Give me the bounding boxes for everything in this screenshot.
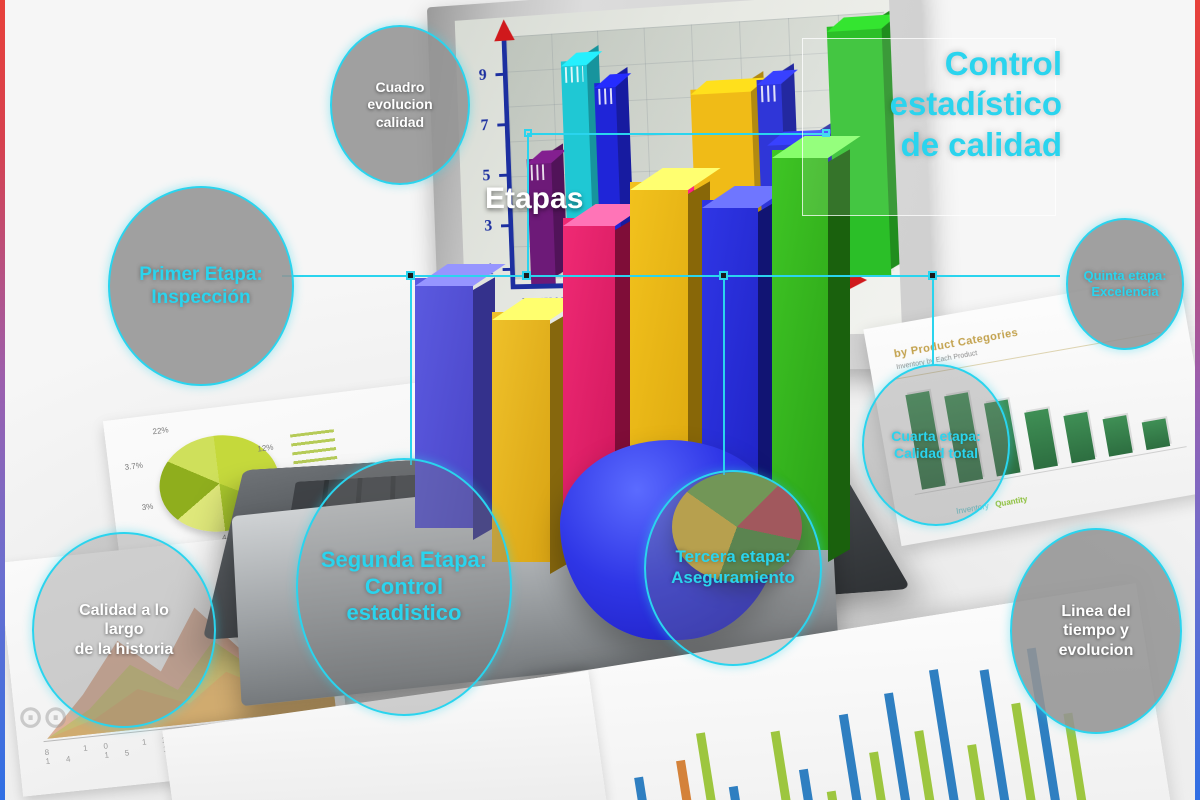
bubble-tercera-etapa[interactable]: Tercera etapa: Aseguramiento bbox=[644, 470, 822, 666]
bubble-linea-line-1: tiempo y bbox=[1059, 621, 1134, 641]
right-report-bar-4 bbox=[1063, 412, 1095, 463]
bubble-cuarta-line-1: Calidad total bbox=[891, 445, 980, 462]
connector-vertical-segunda bbox=[410, 275, 412, 465]
connector-node-segunda bbox=[406, 271, 415, 280]
bubble-cuarta-line-0: Cuarta etapa: bbox=[891, 428, 980, 445]
connector-node-cuarta bbox=[928, 271, 937, 280]
connector-node-tercera bbox=[719, 271, 728, 280]
bubble-linea-line-0: Linea del bbox=[1059, 602, 1134, 622]
y-tick-9: 9 bbox=[478, 65, 487, 85]
bubble-cuadro-evolucion-calidad[interactable]: Cuadro evolucion calidad bbox=[330, 25, 470, 185]
page-title: Control estadístico de calidad bbox=[800, 44, 1062, 165]
screen-bar-0 bbox=[527, 158, 556, 284]
bubble-cuarta-etapa[interactable]: Cuarta etapa: Calidad total bbox=[862, 364, 1010, 526]
title-line-1: Control bbox=[945, 45, 1062, 82]
right-report-bar-3 bbox=[1024, 409, 1058, 470]
bubble-quinta-line-1: Excelencia bbox=[1083, 284, 1166, 300]
right-report-bar-6 bbox=[1142, 418, 1170, 450]
pie-label-1: 12% bbox=[257, 443, 274, 454]
watermark: ⊙⊙ bbox=[18, 700, 68, 735]
bubble-segunda-line-1: Control bbox=[321, 574, 487, 601]
bubble-tercera-line-1: Aseguramiento bbox=[671, 568, 795, 589]
y-tick-3: 3 bbox=[484, 216, 493, 236]
infographic-canvas: 22% 12% 3.7% 3% 4.7% 8 10 11 12 13 14 15… bbox=[0, 0, 1200, 800]
connector-stub-primer bbox=[282, 275, 412, 277]
bubble-linea-line-2: evolucion bbox=[1059, 641, 1134, 661]
foreground-bar-yellow bbox=[492, 312, 550, 562]
left-gradient-border bbox=[0, 0, 5, 800]
bubble-calidad-line-1: largo bbox=[75, 620, 174, 640]
connector-upper-horizontal bbox=[528, 133, 828, 135]
y-axis-arrow-icon bbox=[493, 19, 514, 42]
legend-quantity: Quantity bbox=[995, 495, 1029, 509]
bubble-tercera-line-0: Tercera etapa: bbox=[671, 547, 795, 568]
title-line-2: estadístico bbox=[890, 85, 1062, 122]
bubble-calidad-line-0: Calidad a lo bbox=[75, 601, 174, 621]
pie-label-3: 3% bbox=[141, 502, 154, 512]
bubble-segunda-line-2: estadistico bbox=[321, 600, 487, 627]
bubble-calidad-historia[interactable]: Calidad a lo largo de la historia bbox=[32, 532, 216, 728]
right-report-bar-5 bbox=[1103, 415, 1133, 457]
bubble-quinta-etapa[interactable]: Quinta etapa: Excelencia bbox=[1066, 218, 1184, 350]
bubble-cuadro-line-1: evolucion bbox=[367, 96, 432, 113]
bubble-segunda-etapa[interactable]: Segunda Etapa: Control estadistico bbox=[296, 458, 512, 716]
pie-label-0: 22% bbox=[152, 425, 169, 436]
right-gradient-border bbox=[1195, 0, 1200, 800]
bubble-primer-line-0: Primer Etapa: bbox=[139, 263, 263, 286]
bubble-linea-tiempo[interactable]: Linea del tiempo y evolucion bbox=[1010, 528, 1182, 734]
bubble-quinta-line-0: Quinta etapa: bbox=[1083, 268, 1166, 284]
bubble-cuadro-line-0: Cuadro bbox=[367, 79, 432, 96]
title-line-3: de calidad bbox=[901, 126, 1062, 163]
bubble-segunda-line-0: Segunda Etapa: bbox=[321, 547, 487, 574]
pie-label-2: 3.7% bbox=[124, 461, 143, 472]
bubble-cuadro-line-2: calidad bbox=[367, 114, 432, 131]
bubble-calidad-line-2: de la historia bbox=[75, 640, 174, 660]
bubble-primer-etapa[interactable]: Primer Etapa: Inspección bbox=[108, 186, 294, 386]
connector-vertical-cuarta bbox=[932, 275, 934, 365]
bubble-primer-line-1: Inspección bbox=[139, 286, 263, 309]
connector-vertical-tercera bbox=[723, 275, 725, 475]
y-tick-7: 7 bbox=[480, 115, 489, 135]
connector-node-upper-left bbox=[524, 129, 532, 137]
etapas-label: Etapas bbox=[485, 182, 583, 216]
connector-node-etapas bbox=[522, 271, 531, 280]
